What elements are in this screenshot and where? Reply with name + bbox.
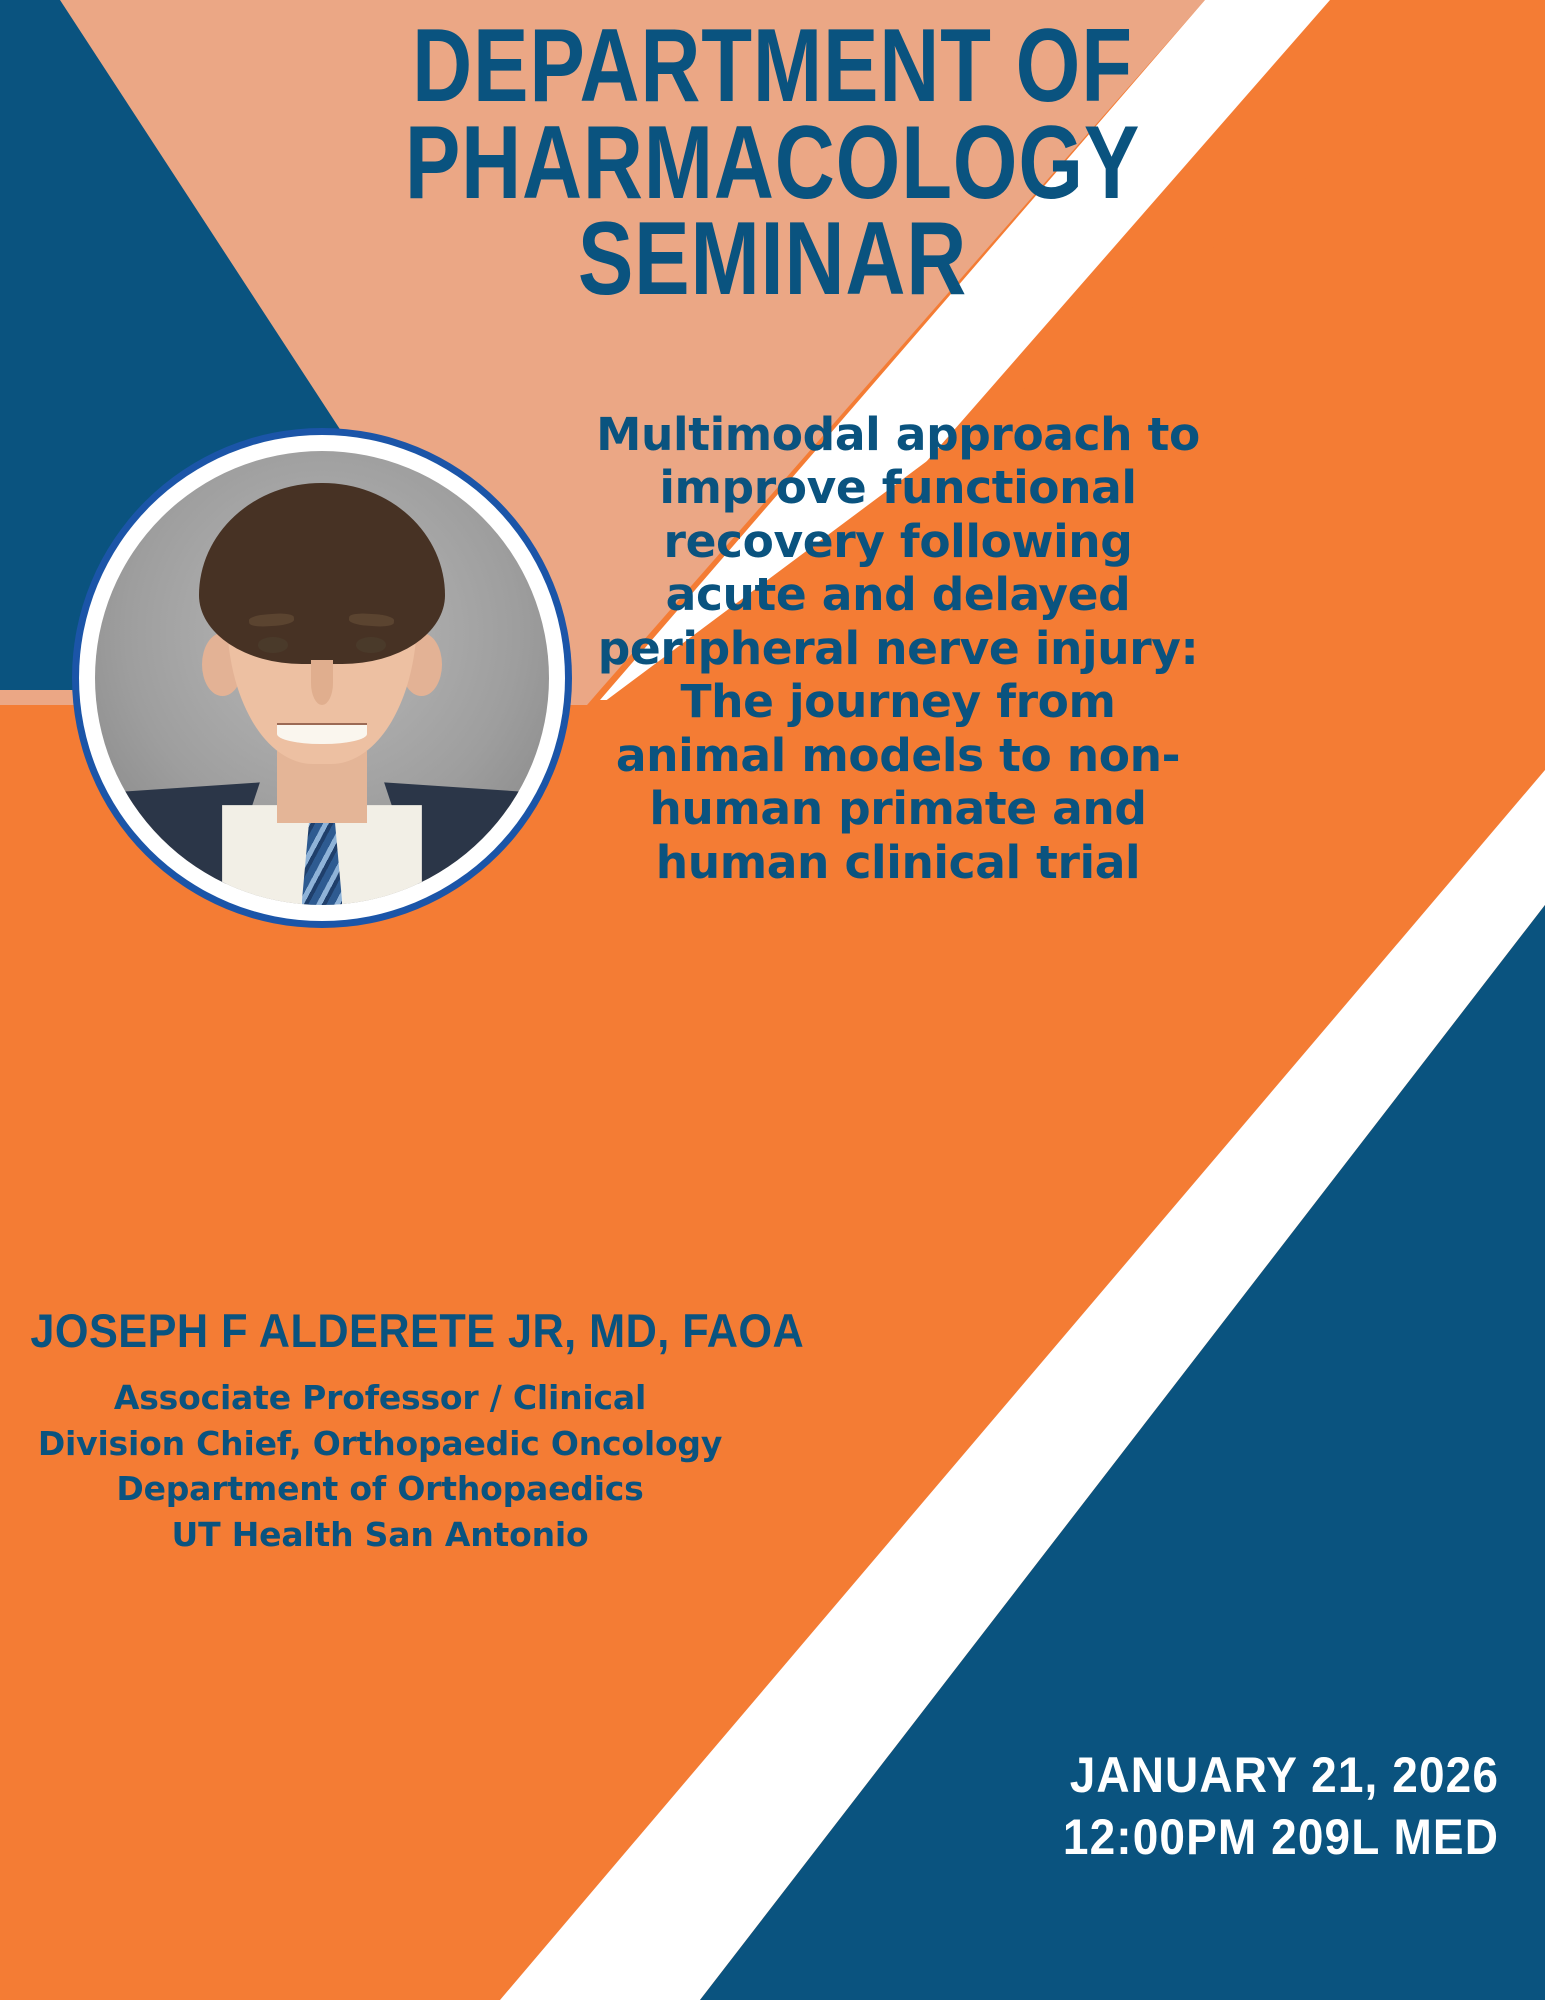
speaker-affiliation: Associate Professor / Clinical Division … (0, 1375, 760, 1557)
portrait-hair (199, 483, 444, 665)
speaker-role-line: Division Chief, Orthopaedic Oncology (0, 1421, 760, 1467)
speaker-photo-ring (72, 428, 572, 928)
speaker-photo-white-ring (79, 435, 565, 921)
seminar-poster: DEPARTMENT OF PHARMACOLOGY SEMINAR (0, 0, 1545, 2000)
speaker-title-line: Associate Professor / Clinical (0, 1375, 760, 1421)
event-details: JANUARY 21, 2026 12:00PM 209L MED (1063, 1744, 1499, 1868)
portrait-eye-right (356, 637, 386, 652)
speaker-headshot-image (95, 451, 549, 905)
speaker-name: JOSEPH F ALDERETE JR, MD, FAOA (30, 1303, 729, 1358)
speaker-institution-line: UT Health San Antonio (0, 1512, 760, 1558)
event-time-and-room: 12:00PM 209L MED (1063, 1806, 1499, 1868)
portrait-eye-left (258, 637, 288, 652)
speaker-department-line: Department of Orthopaedics (0, 1466, 760, 1512)
event-date: JANUARY 21, 2026 (1063, 1744, 1499, 1806)
